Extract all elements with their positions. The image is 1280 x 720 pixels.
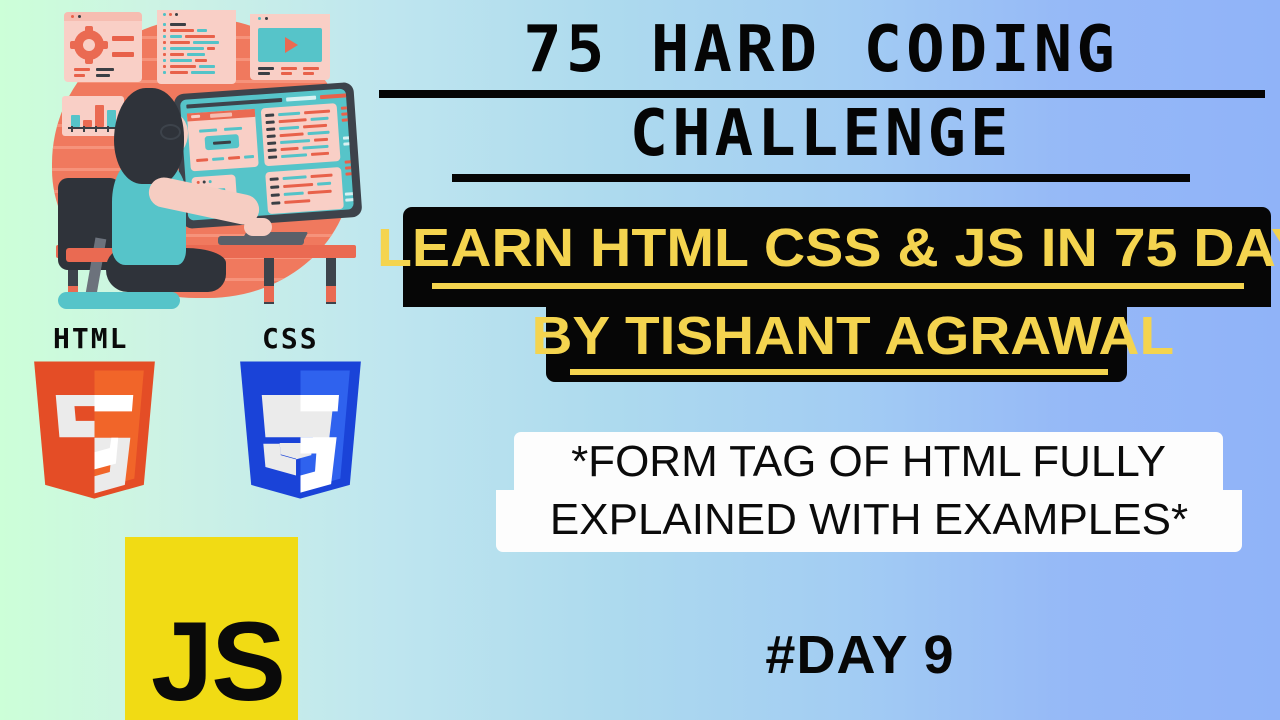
title-line-2: CHALLENGE	[376, 98, 1266, 170]
javascript-logo: JS	[125, 537, 298, 720]
js-logo-mark: JS	[151, 597, 284, 720]
banner-line-2: BY TISHANT AGRAWAL	[531, 306, 1141, 366]
glasses-icon	[160, 124, 181, 140]
css-logo-label: CSS	[262, 322, 319, 355]
title-line-2-underline	[452, 174, 1190, 182]
day-tag: #DAY 9	[640, 624, 1080, 686]
banner-line-2-underline	[570, 369, 1108, 375]
css3-logo	[233, 358, 368, 518]
chair-base	[58, 292, 180, 309]
title-line-1: 75 HARD CODING	[376, 14, 1266, 86]
banner-line-1-underline	[432, 283, 1244, 289]
html-logo-label: HTML	[53, 322, 128, 355]
coding-illustration	[22, 0, 382, 330]
play-icon	[285, 37, 298, 53]
video-card	[250, 14, 330, 80]
subtitle-line-2: EXPLAINED WITH EXAMPLES*	[496, 495, 1242, 545]
banner-line-1: LEARN HTML CSS & JS IN 75 DAYS	[377, 218, 1280, 278]
code-card	[157, 10, 236, 84]
person-hand	[244, 218, 272, 236]
gear-icon	[74, 30, 104, 60]
subtitle-line-1: *FORM TAG OF HTML FULLY	[514, 437, 1223, 487]
html5-logo	[27, 358, 162, 518]
youtube-thumbnail: HTML CSS JS 75 HARD CODING CHALLENGE LEA…	[0, 0, 1280, 720]
settings-card	[64, 12, 142, 82]
